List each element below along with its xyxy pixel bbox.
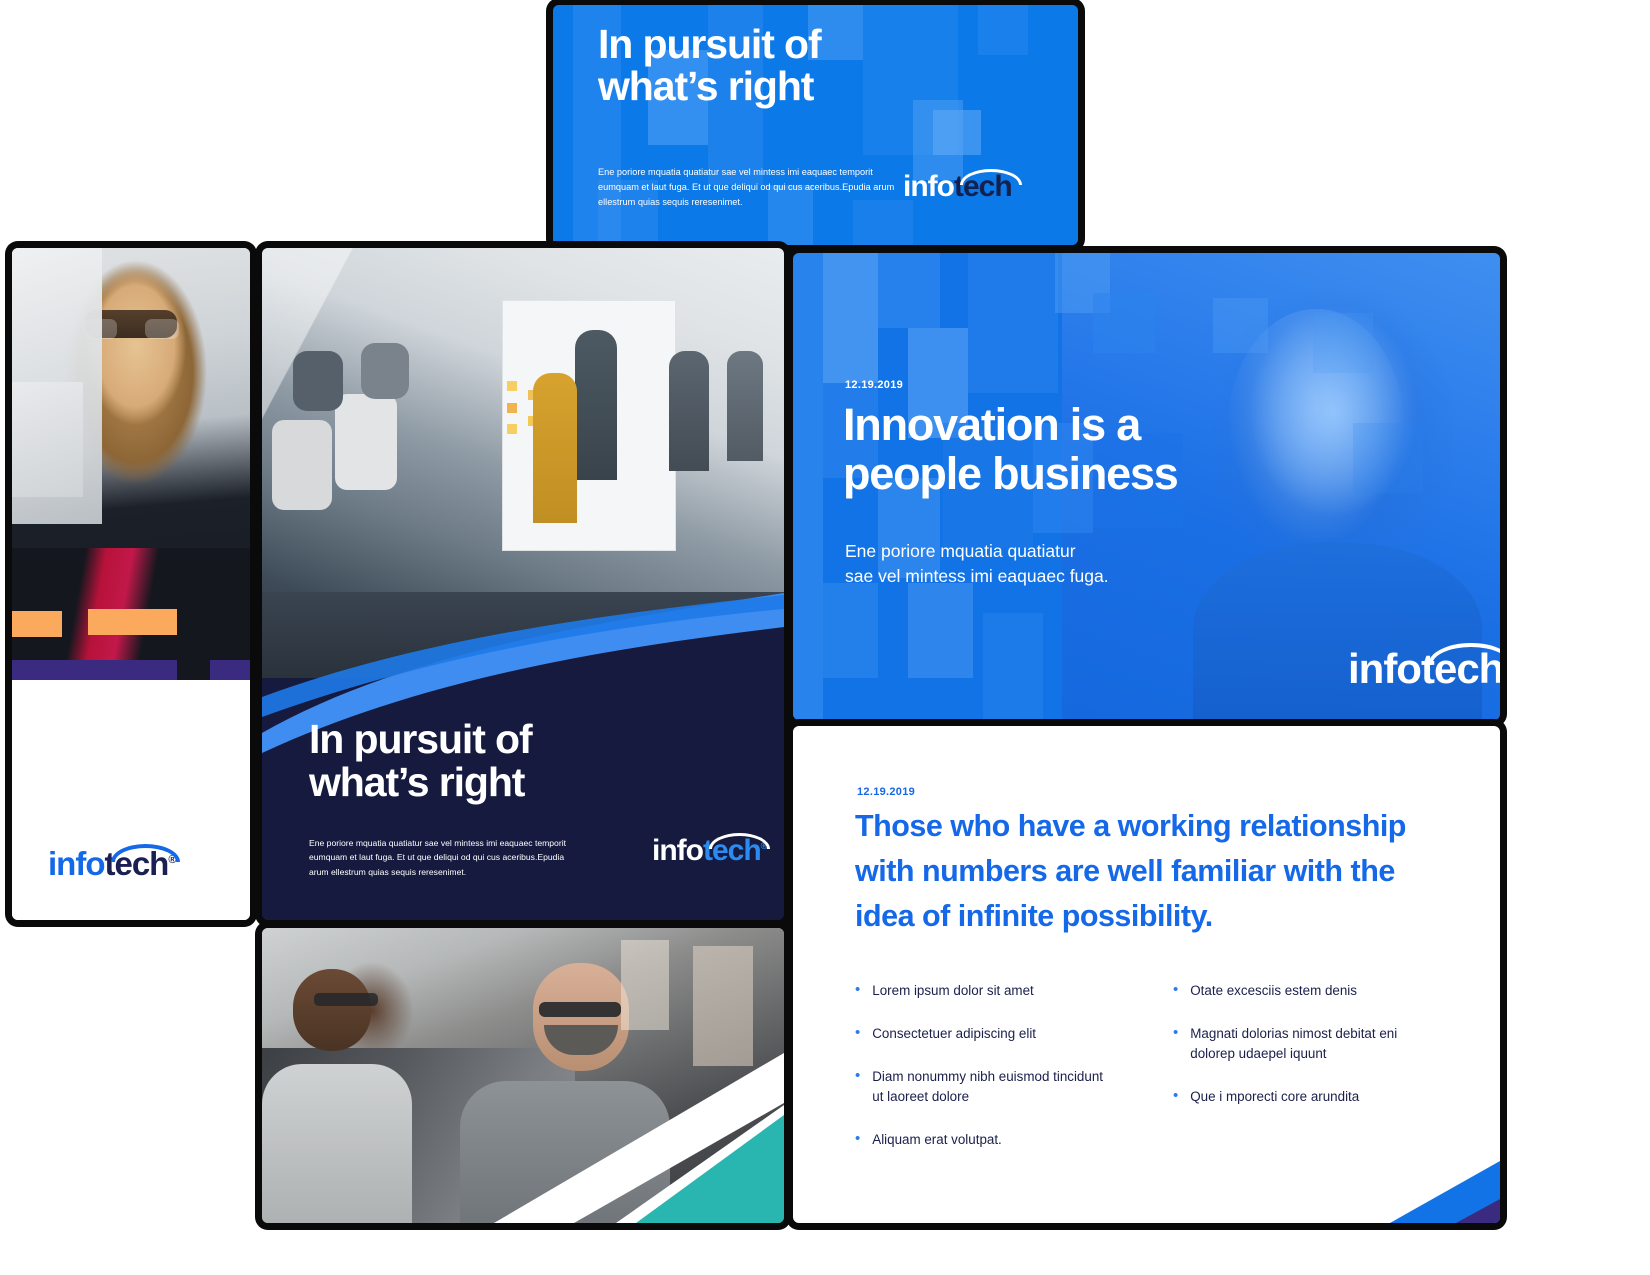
bullets-column-left: • Lorem ipsum dolor sit amet • Consectet… — [855, 981, 1117, 1174]
slide-portrait-photo[interactable]: infotech® — [12, 248, 250, 920]
bullet-dot-icon: • — [855, 1130, 860, 1150]
orange-accent-bar-right — [88, 609, 177, 635]
infotech-logo: infotech — [903, 170, 1012, 204]
teal-diagonal-stripes — [484, 1043, 784, 1223]
bullet-dot-icon: • — [855, 1024, 860, 1044]
bullet-dot-icon: • — [855, 981, 860, 1001]
list-item-label: Otate excesciis estem denis — [1190, 981, 1357, 1001]
innovation-date: 12.19.2019 — [845, 379, 903, 391]
innovation-body-line-1: Ene poriore mquatia quatiatur — [845, 539, 1185, 564]
innovation-title-line-2: people business — [843, 450, 1263, 499]
hero-body-text: Ene poriore mquatia quatiatur sae vel mi… — [598, 165, 908, 210]
slide-innovation-blue[interactable]: 12.19.2019 Innovation is a people busine… — [793, 253, 1500, 720]
list-item: • Otate excesciis estem denis — [1173, 981, 1435, 1001]
slide-bottom-photo[interactable] — [262, 928, 784, 1223]
logo-info-text: info — [903, 170, 954, 203]
purple-accent-bar-right — [210, 660, 250, 680]
innovation-body: Ene poriore mquatia quatiatur sae vel mi… — [845, 539, 1185, 589]
list-item-label: Consectetuer adipiscing elit — [872, 1024, 1036, 1044]
logo-info-text: info — [652, 834, 703, 867]
list-item-label: Lorem ipsum dolor sit amet — [872, 981, 1034, 1001]
innovation-body-line-2: sae vel mintess imi eaquaec fuga. — [845, 564, 1185, 589]
bullets-title: Those who have a working relationship wi… — [855, 804, 1455, 939]
bullets-date: 12.19.2019 — [857, 786, 915, 798]
slide-gallery: In pursuit of what’s right Ene poriore m… — [0, 0, 1650, 1275]
innovation-title-line-1: Innovation is a — [843, 401, 1263, 450]
infotech-logo-innovation: infotech® — [1348, 645, 1500, 693]
list-item: • Lorem ipsum dolor sit amet — [855, 981, 1117, 1001]
list-item-label: Aliquam erat volutpat. — [872, 1130, 1002, 1150]
innovation-title: Innovation is a people business — [843, 401, 1263, 498]
slide-bullets-white[interactable]: 12.19.2019 Those who have a working rela… — [793, 726, 1500, 1223]
bullet-dot-icon: • — [1173, 1087, 1178, 1107]
bullet-dot-icon: • — [1173, 981, 1178, 1001]
hero-title: In pursuit of what’s right — [598, 23, 1018, 107]
blue-diagonal-stripes — [1270, 1103, 1500, 1223]
bullet-dot-icon: • — [1173, 1024, 1178, 1064]
list-item-label: Diam nonummy nibh euismod tincidunt ut l… — [872, 1067, 1117, 1107]
list-item: • Consectetuer adipiscing elit — [855, 1024, 1117, 1044]
slide-hero-blue[interactable]: In pursuit of what’s right Ene poriore m… — [553, 5, 1078, 245]
purple-accent-bar-left — [12, 660, 177, 680]
list-item: • Magnati dolorias nimost debitat eni do… — [1173, 1024, 1435, 1064]
hero-title-line-2: what’s right — [598, 65, 1018, 107]
slide-center-navy[interactable]: In pursuit of what’s right Ene poriore m… — [262, 248, 784, 920]
portrait-white-footer — [12, 680, 250, 920]
orange-accent-bar-left — [12, 611, 62, 637]
logo-info-text: info — [1348, 645, 1421, 692]
bullets-title-line-1: Those who have a working relationship — [855, 804, 1455, 849]
bullet-dot-icon: • — [855, 1067, 860, 1107]
center-body-text: Ene poriore mquatia quatiatur sae vel mi… — [309, 836, 569, 879]
hero-title-line-1: In pursuit of — [598, 23, 1018, 65]
infotech-logo-center: infotech® — [652, 834, 767, 868]
center-title-line-1: In pursuit of — [309, 718, 729, 761]
logo-info-text: info — [48, 845, 104, 882]
center-title-line-2: what’s right — [309, 761, 729, 804]
bullets-title-line-2: with numbers are well familiar with the — [855, 849, 1455, 894]
infotech-logo-portrait: infotech® — [48, 845, 175, 883]
bullets-title-line-3: idea of infinite possibility. — [855, 894, 1455, 939]
list-item: • Aliquam erat volutpat. — [855, 1130, 1117, 1150]
list-item-label: Magnati dolorias nimost debitat eni dolo… — [1190, 1024, 1435, 1064]
center-title: In pursuit of what’s right — [309, 718, 729, 804]
list-item: • Diam nonummy nibh euismod tincidunt ut… — [855, 1067, 1117, 1107]
